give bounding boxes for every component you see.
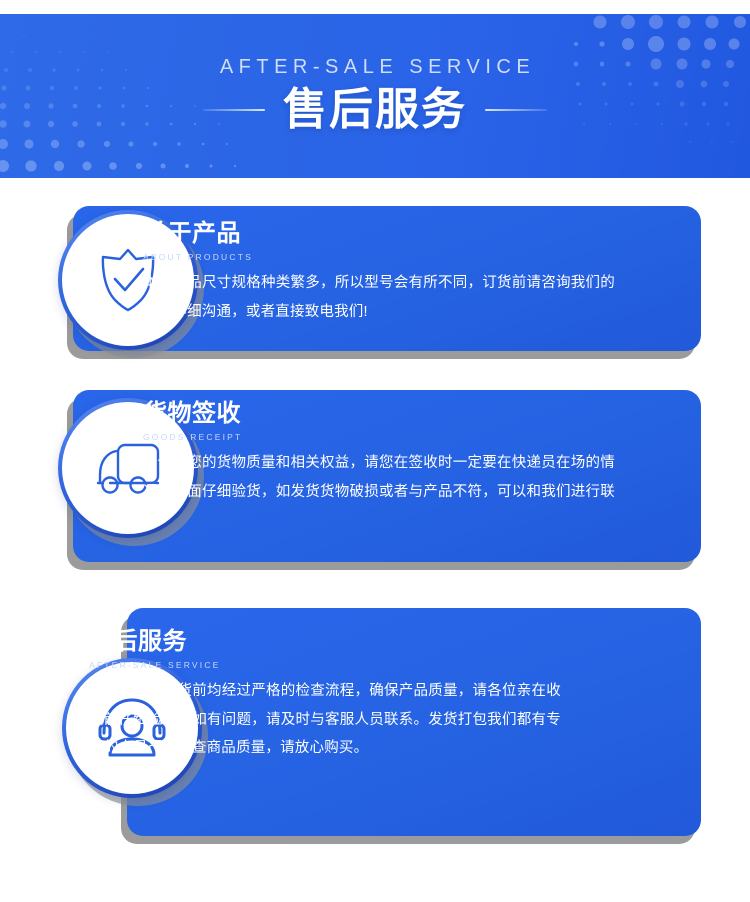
card-title: 关于产品 <box>143 220 615 248</box>
service-cards-list: 关于产品 ABOUT PRODUCTS 本厂产品尺寸规格种类繁多，所以型号会有所… <box>0 196 750 861</box>
page-title: 售后服务 <box>283 85 467 134</box>
card-body-text: 本厂产品尺寸规格种类繁多，所以型号会有所不同，订货前请咨询我们的客服详细沟通，或… <box>143 269 615 326</box>
service-card-goods-receipt: 货物签收 GOODS RECEIPT 为保障您的货物质量和相关权益，请您在签收时… <box>0 376 750 596</box>
card-text-block: 售后服务 AFTER-SALE SERVICE 本店商品在发货前均经过严格的检查… <box>89 628 561 762</box>
service-card-about-products: 关于产品 ABOUT PRODUCTS 本厂产品尺寸规格种类繁多，所以型号会有所… <box>0 196 750 376</box>
card-text-block: 关于产品 ABOUT PRODUCTS 本厂产品尺寸规格种类繁多，所以型号会有所… <box>143 220 615 326</box>
card-body-text: 本店商品在发货前均经过严格的检查流程，确保产品质量，请各位亲在收货前仔细检查，如… <box>89 677 561 762</box>
card-text-block: 货物签收 GOODS RECEIPT 为保障您的货物质量和相关权益，请您在签收时… <box>143 400 615 534</box>
page-header-banner: AFTER-SALE SERVICE 售后服务 <box>0 14 750 178</box>
card-subtitle: AFTER-SALE SERVICE <box>89 660 561 670</box>
card-title: 货物签收 <box>143 400 615 428</box>
service-card-after-sale-service: 售后服务 AFTER-SALE SERVICE 本店商品在发货前均经过严格的检查… <box>0 596 750 861</box>
divider-line-right <box>485 109 547 111</box>
card-body-text: 为保障您的货物质量和相关权益，请您在签收时一定要在快递员在场的情况下当面仔细验货… <box>143 449 615 534</box>
banner-eyebrow-text: AFTER-SALE SERVICE <box>215 57 535 77</box>
after-sale-service-page: AFTER-SALE SERVICE 售后服务 <box>0 0 750 902</box>
card-title: 售后服务 <box>89 628 561 656</box>
card-subtitle: GOODS RECEIPT <box>143 432 615 442</box>
divider-line-left <box>203 109 265 111</box>
card-subtitle: ABOUT PRODUCTS <box>143 252 615 262</box>
